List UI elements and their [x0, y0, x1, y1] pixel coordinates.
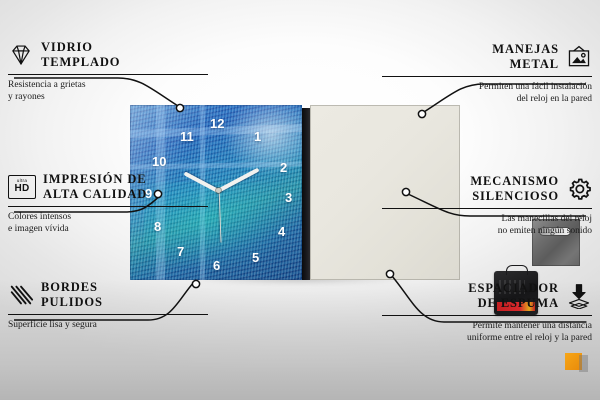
- clock-numeral-7: 7: [177, 245, 184, 258]
- clock-numeral-12: 12: [210, 117, 224, 130]
- feature-title-line2: SILENCIOSO: [470, 189, 559, 204]
- clock-numeral-6: 6: [213, 259, 220, 272]
- callout-espaciador-espuma: ESPACIADOR DE ESPUMA Permite mantener un…: [382, 281, 592, 345]
- glass-panel-side-edge: [302, 108, 310, 280]
- callout-rule: [382, 208, 592, 209]
- feature-desc-line2: uniforme entre el reloj y la pared: [382, 332, 592, 344]
- ultra-hd-big-label: HD: [14, 184, 29, 194]
- feature-desc-line1: Las manecillas del reloj: [382, 213, 592, 225]
- diagonal-lines-icon: [8, 282, 34, 308]
- feature-desc-line1: Superficie lisa y segura: [8, 319, 208, 331]
- picture-frame-hook-icon: [566, 44, 592, 70]
- mechanism-hanger-loop: [506, 265, 528, 275]
- foam-spacer-pad: [565, 353, 582, 370]
- ultra-hd-icon: ultra HD: [8, 175, 36, 199]
- feature-title-line1: MECANISMO: [470, 174, 559, 189]
- callout-rule: [8, 206, 208, 207]
- feature-title-line2: ALTA CALIDAD: [43, 187, 147, 202]
- callout-manejas-metal: MANEJAS METAL Permiten una fácil instala…: [382, 42, 592, 106]
- feature-desc-line1: Permiten una fácil instalación: [382, 81, 592, 93]
- feature-desc-line2: e imagen vívida: [8, 223, 208, 235]
- feature-title-line2: DE ESPUMA: [468, 296, 559, 311]
- feature-desc-line2: del reloj en la pared: [382, 93, 592, 105]
- feature-desc-line1: Permite mantener una distancia: [382, 320, 592, 332]
- clock-numeral-4: 4: [278, 225, 285, 238]
- clock-numeral-10: 10: [152, 155, 166, 168]
- feature-title-line2: METAL: [492, 57, 559, 72]
- feature-title-line2: TEMPLADO: [41, 55, 120, 70]
- callout-mecanismo-silencioso: MECANISMO SILENCIOSO Las manecillas del …: [382, 174, 592, 238]
- feature-desc-line2: no emiten ningún sonido: [382, 225, 592, 237]
- callout-rule: [382, 315, 592, 316]
- clock-numeral-2: 2: [280, 161, 287, 174]
- feature-desc-line1: Resistencia a grietas: [8, 79, 208, 91]
- diamond-icon: [8, 42, 34, 68]
- infographic-canvas: 12 1 2 3 4 5 6 7 8 9 10 11: [0, 0, 600, 400]
- arrow-down-layers-icon: [566, 283, 592, 309]
- feature-title-line1: MANEJAS: [492, 42, 559, 57]
- callout-bordes-pulidos: BORDES PULIDOS Superficie lisa y segura: [8, 280, 208, 331]
- pattern-highlight: [223, 105, 302, 175]
- feature-title-line1: VIDRIO: [41, 40, 120, 55]
- clock-numeral-5: 5: [252, 251, 259, 264]
- feature-title-line1: ESPACIADOR: [468, 281, 559, 296]
- clock-numeral-1: 1: [254, 130, 261, 143]
- callout-vidrio-templado: VIDRIO TEMPLADO Resistencia a grietas y …: [8, 40, 208, 104]
- clock-numeral-3: 3: [285, 191, 292, 204]
- gear-icon: [566, 176, 592, 202]
- feature-desc-line2: y rayones: [8, 91, 208, 103]
- feature-title-line2: PULIDOS: [41, 295, 103, 310]
- callout-rule: [8, 74, 208, 75]
- feature-desc-line1: Colores intensos: [8, 211, 208, 223]
- callout-impresion-alta-calidad: ultra HD IMPRESIÓN DE ALTA CALIDAD Color…: [8, 172, 208, 236]
- foam-spacer-shadow: [579, 355, 588, 372]
- callout-rule: [8, 314, 208, 315]
- callout-rule: [382, 76, 592, 77]
- clock-center-cap: [216, 188, 221, 193]
- feature-title-line1: IMPRESIÓN DE: [43, 172, 147, 187]
- clock-numeral-11: 11: [180, 130, 194, 143]
- feature-title-line1: BORDES: [41, 280, 103, 295]
